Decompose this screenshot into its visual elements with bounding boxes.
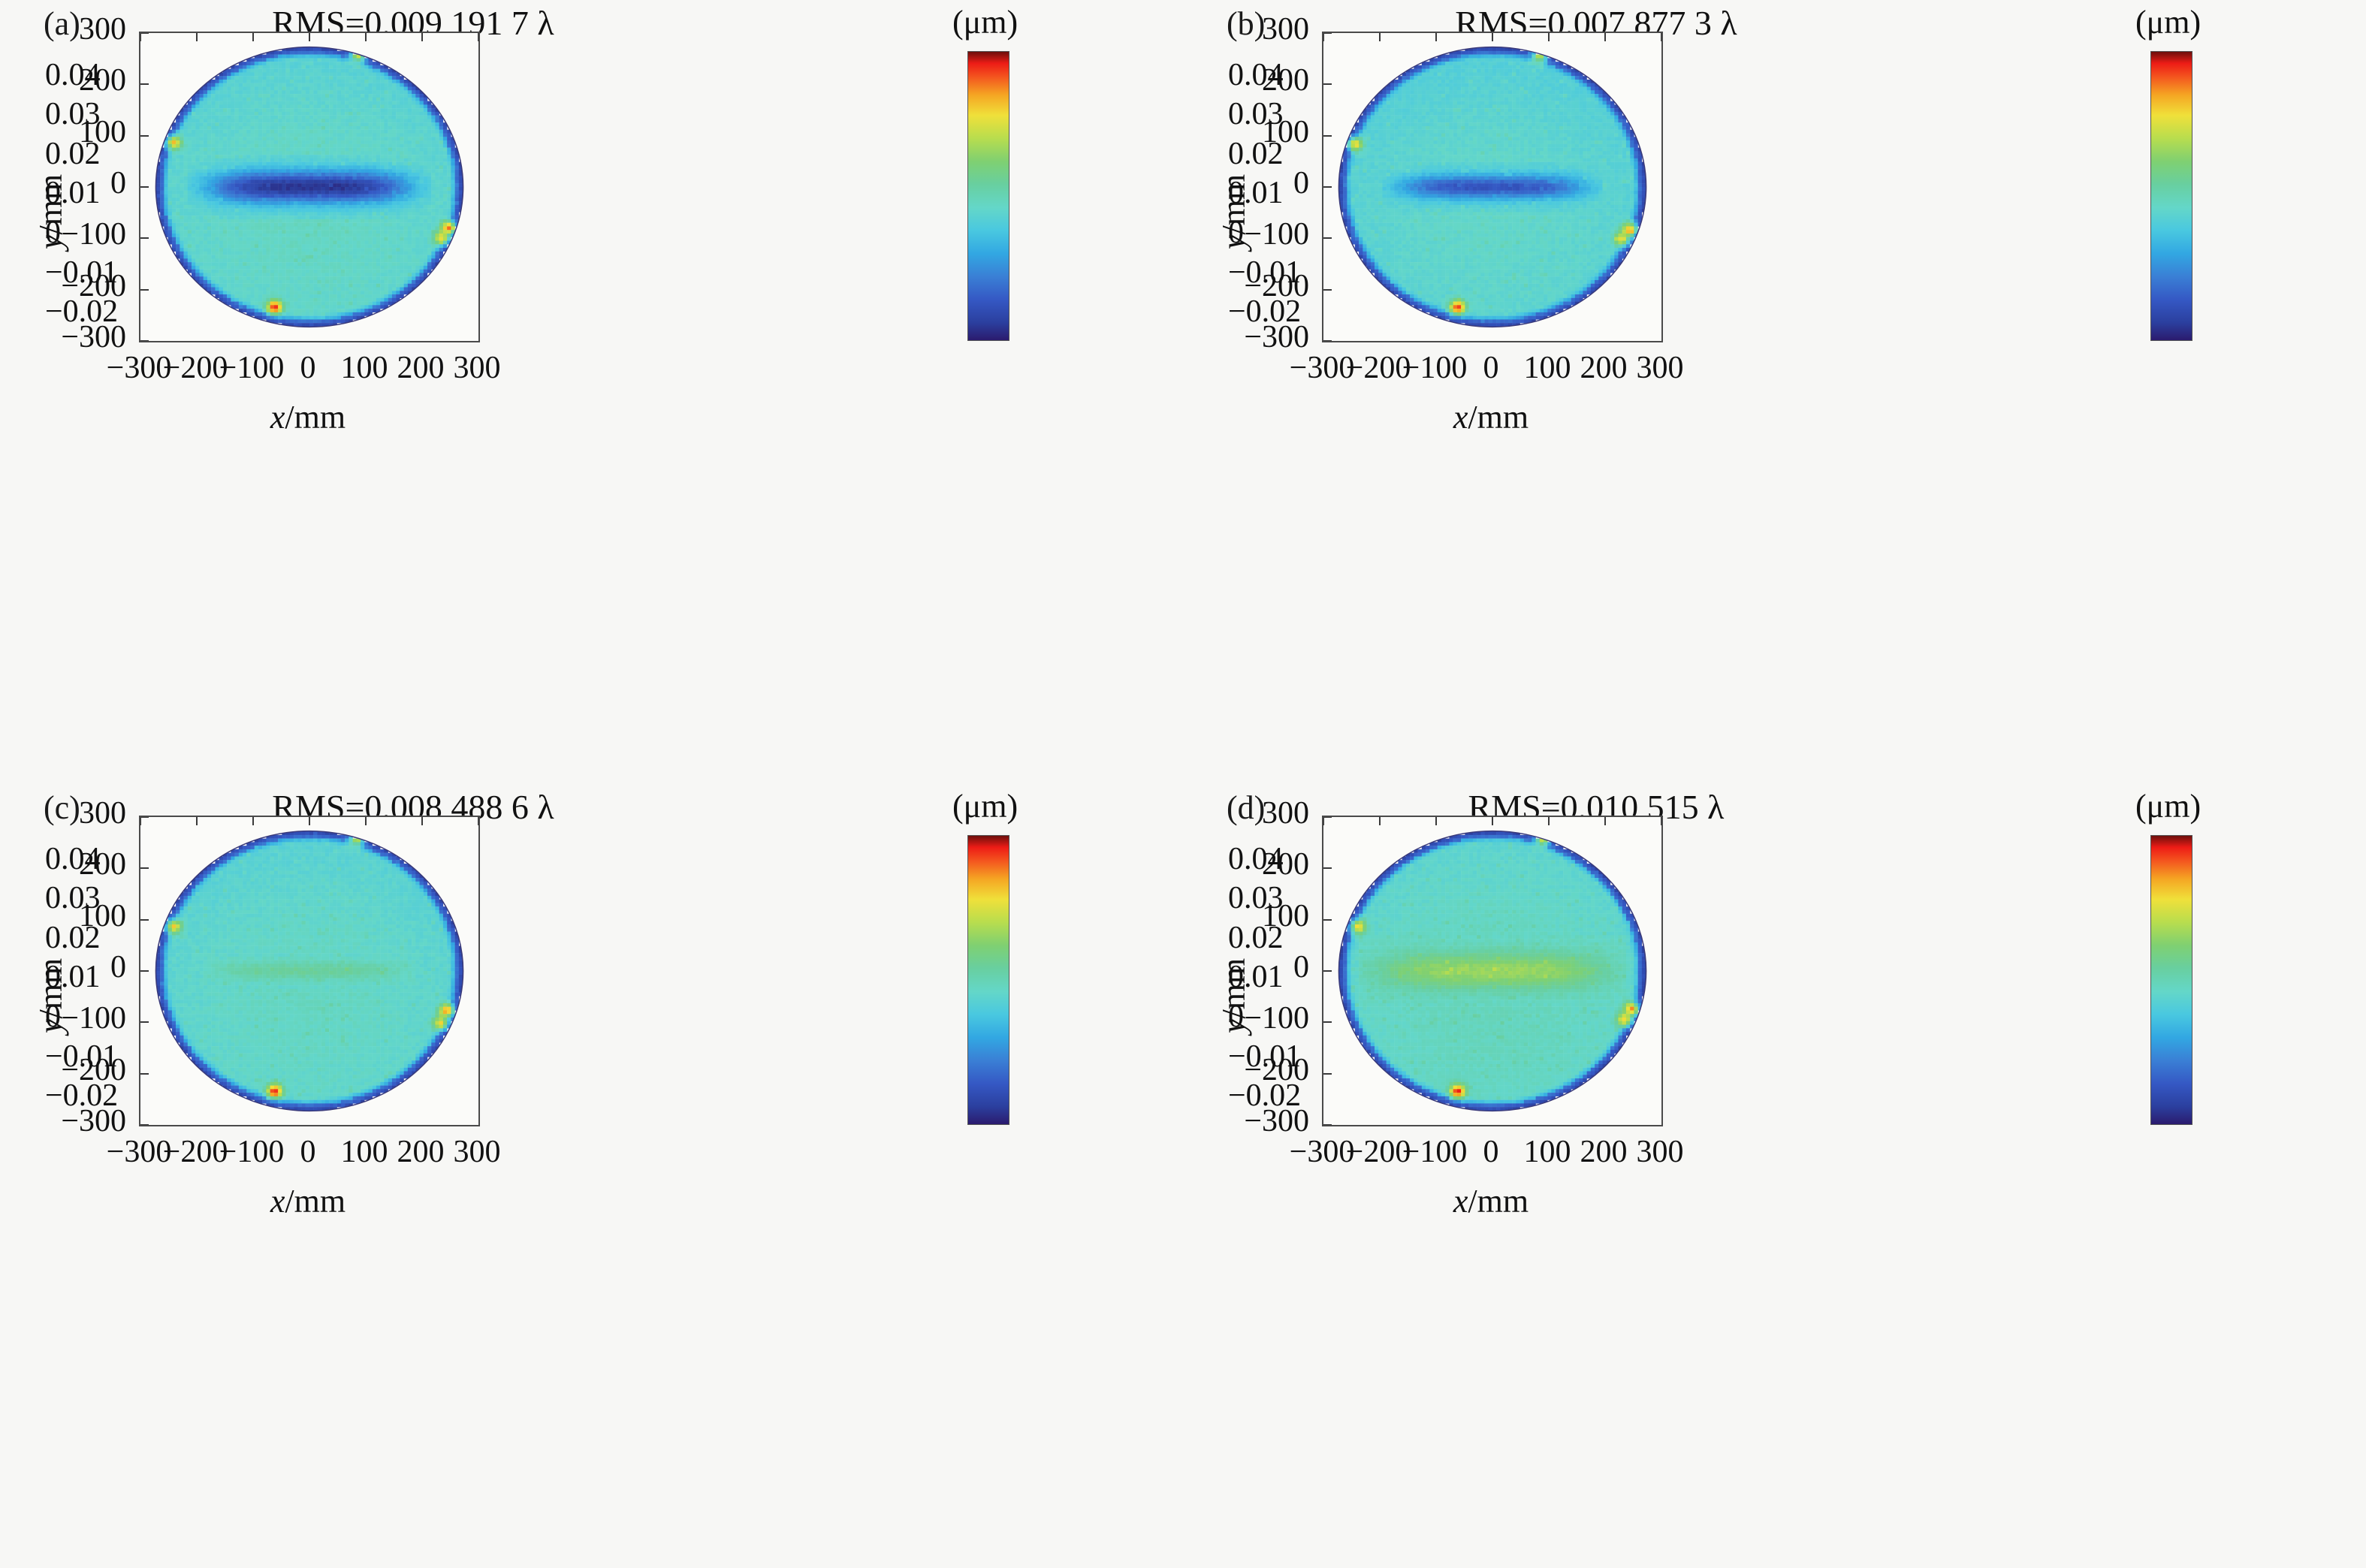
x-axis-var: x (1453, 1183, 1468, 1220)
colorbar-tick-label: 0 (1228, 999, 1244, 1035)
colorbar-tick-label: 0.02 (45, 136, 101, 172)
x-tick-mark (1435, 817, 1437, 825)
colorbar-tick-label: 0 (45, 215, 61, 251)
colorbar-tick-label: −0.02 (1228, 294, 1301, 330)
x-tick-mark (1435, 33, 1437, 41)
colorbar-gradient (2151, 52, 2192, 340)
colorbar-tick-label: 0.01 (45, 175, 101, 211)
panel-c: (c)RMS=0.008 488 6 λ(μm)3002001000−100−2… (0, 784, 1183, 1568)
y-tick-mark (1323, 340, 1332, 342)
panel-b: (b)RMS=0.007 877 3 λ(μm)3002001000−100−2… (1183, 0, 2366, 784)
x-tick-mark (1604, 817, 1606, 825)
y-tick-mark (1323, 32, 1332, 34)
y-tick-label: 300 (14, 11, 126, 47)
plot-axes (1322, 32, 1663, 342)
x-tick-mark (1661, 817, 1662, 825)
heatmap-image (140, 33, 478, 341)
x-axis-title: x/mm (1322, 1182, 1660, 1220)
x-axis-unit: /mm (285, 399, 346, 436)
colorbar-tick-label: 0.01 (1228, 175, 1284, 211)
x-tick-label: 300 (402, 350, 552, 386)
colorbar-unit-label: (μm) (952, 787, 1018, 825)
x-tick-label: 300 (402, 1134, 552, 1170)
x-tick-mark (365, 33, 367, 41)
y-tick-label: 300 (14, 795, 126, 831)
colorbar-unit-label: (μm) (2135, 3, 2201, 41)
y-tick-mark (140, 135, 149, 137)
colorbar-tick-label: 0 (45, 999, 61, 1035)
y-tick-mark (140, 919, 149, 921)
x-tick-mark (140, 817, 141, 825)
x-tick-mark (1548, 33, 1550, 41)
figure-root: (a)RMS=0.009 191 7 λ(μm)3002001000−100−2… (0, 0, 2366, 1568)
colorbar-unit-label: (μm) (2135, 787, 2201, 825)
y-tick-label: 300 (1197, 795, 1309, 831)
colorbar-tick-label: 0.02 (1228, 920, 1284, 956)
plot-axes (139, 816, 480, 1126)
y-tick-label: −100 (1197, 1000, 1309, 1036)
y-tick-mark (140, 83, 149, 85)
y-tick-mark (1323, 970, 1332, 972)
x-tick-mark (196, 33, 198, 41)
y-tick-mark (1323, 237, 1332, 239)
colorbar-gradient (2151, 836, 2192, 1124)
colorbar-tick-label: 0.04 (1228, 841, 1284, 877)
y-tick-label: −100 (14, 216, 126, 252)
y-tick-mark (140, 816, 149, 818)
y-tick-mark (140, 237, 149, 239)
plot-axes (139, 32, 480, 342)
x-tick-mark (140, 33, 141, 41)
y-tick-mark (140, 186, 149, 188)
y-tick-mark (140, 289, 149, 291)
y-tick-mark (140, 1021, 149, 1023)
x-tick-mark (252, 33, 254, 41)
heatmap-image (1323, 817, 1661, 1125)
x-axis-var: x (1453, 399, 1468, 436)
y-tick-mark (140, 32, 149, 34)
colorbar-tick-label: −0.02 (1228, 1078, 1301, 1114)
colorbar-tick-label: 0.02 (45, 920, 101, 956)
colorbar-tick-label: −0.02 (45, 294, 118, 330)
x-tick-mark (478, 817, 479, 825)
colorbar-tick-label: 0.02 (1228, 136, 1284, 172)
y-tick-mark (1323, 867, 1332, 869)
y-tick-mark (140, 867, 149, 869)
x-tick-mark (1604, 33, 1606, 41)
y-tick-mark (1323, 816, 1332, 818)
x-tick-mark (421, 817, 423, 825)
x-tick-mark (1548, 817, 1550, 825)
x-tick-mark (309, 33, 310, 41)
colorbar-tick-label: 0.04 (45, 841, 101, 877)
y-tick-mark (140, 340, 149, 342)
x-tick-mark (1323, 33, 1324, 41)
y-tick-mark (1323, 1021, 1332, 1023)
y-tick-mark (140, 1124, 149, 1126)
colorbar-tick-label: 0.01 (45, 959, 101, 995)
y-tick-label: −100 (1197, 216, 1309, 252)
colorbar-tick-label: −0.01 (45, 255, 118, 291)
colorbar-tick-label: 0.04 (45, 57, 101, 93)
x-tick-mark (1379, 33, 1381, 41)
x-axis-unit: /mm (1468, 1183, 1529, 1220)
x-axis-var: x (270, 399, 285, 436)
x-tick-mark (309, 817, 310, 825)
colorbar (967, 51, 1009, 341)
x-tick-mark (1661, 33, 1662, 41)
panel-d: (d)RMS=0.010 515 λ(μm)3002001000−100−200… (1183, 784, 2366, 1568)
y-tick-label: −100 (14, 1000, 126, 1036)
y-tick-mark (1323, 83, 1332, 85)
colorbar (2150, 835, 2192, 1125)
colorbar-tick-label: 0.01 (1228, 959, 1284, 995)
colorbar-gradient (968, 52, 1009, 340)
x-tick-mark (196, 817, 198, 825)
plot-axes (1322, 816, 1663, 1126)
y-tick-mark (1323, 186, 1332, 188)
colorbar (2150, 51, 2192, 341)
colorbar (967, 835, 1009, 1125)
y-tick-label: 300 (1197, 11, 1309, 47)
x-tick-mark (252, 817, 254, 825)
x-tick-mark (365, 817, 367, 825)
x-axis-unit: /mm (285, 1183, 346, 1220)
y-tick-mark (140, 1073, 149, 1075)
x-tick-mark (421, 33, 423, 41)
x-tick-mark (1379, 817, 1381, 825)
colorbar-tick-label: 0.03 (1228, 96, 1284, 132)
colorbar-tick-label: −0.01 (45, 1039, 118, 1075)
x-tick-label: 300 (1585, 1134, 1735, 1170)
colorbar-tick-label: −0.01 (1228, 255, 1301, 291)
colorbar-tick-label: 0.03 (1228, 880, 1284, 916)
colorbar-tick-label: 0.04 (1228, 57, 1284, 93)
y-tick-mark (1323, 1073, 1332, 1075)
colorbar-tick-label: 0.03 (45, 880, 101, 916)
panel-a: (a)RMS=0.009 191 7 λ(μm)3002001000−100−2… (0, 0, 1183, 784)
heatmap-image (140, 817, 478, 1125)
x-axis-unit: /mm (1468, 399, 1529, 436)
x-tick-mark (1492, 817, 1493, 825)
colorbar-tick-label: 0 (1228, 215, 1244, 251)
x-tick-mark (1492, 33, 1493, 41)
colorbar-tick-label: −0.02 (45, 1078, 118, 1114)
y-tick-mark (140, 970, 149, 972)
heatmap-image (1323, 33, 1661, 341)
colorbar-tick-label: 0.03 (45, 96, 101, 132)
colorbar-tick-label: −0.01 (1228, 1039, 1301, 1075)
x-axis-var: x (270, 1183, 285, 1220)
y-tick-mark (1323, 135, 1332, 137)
colorbar-unit-label: (μm) (952, 3, 1018, 41)
x-tick-mark (1323, 817, 1324, 825)
x-axis-title: x/mm (139, 1182, 477, 1220)
colorbar-gradient (968, 836, 1009, 1124)
x-tick-mark (478, 33, 479, 41)
y-tick-mark (1323, 1124, 1332, 1126)
y-tick-mark (1323, 919, 1332, 921)
x-tick-label: 300 (1585, 350, 1735, 386)
x-axis-title: x/mm (139, 398, 477, 436)
x-axis-title: x/mm (1322, 398, 1660, 436)
y-tick-mark (1323, 289, 1332, 291)
